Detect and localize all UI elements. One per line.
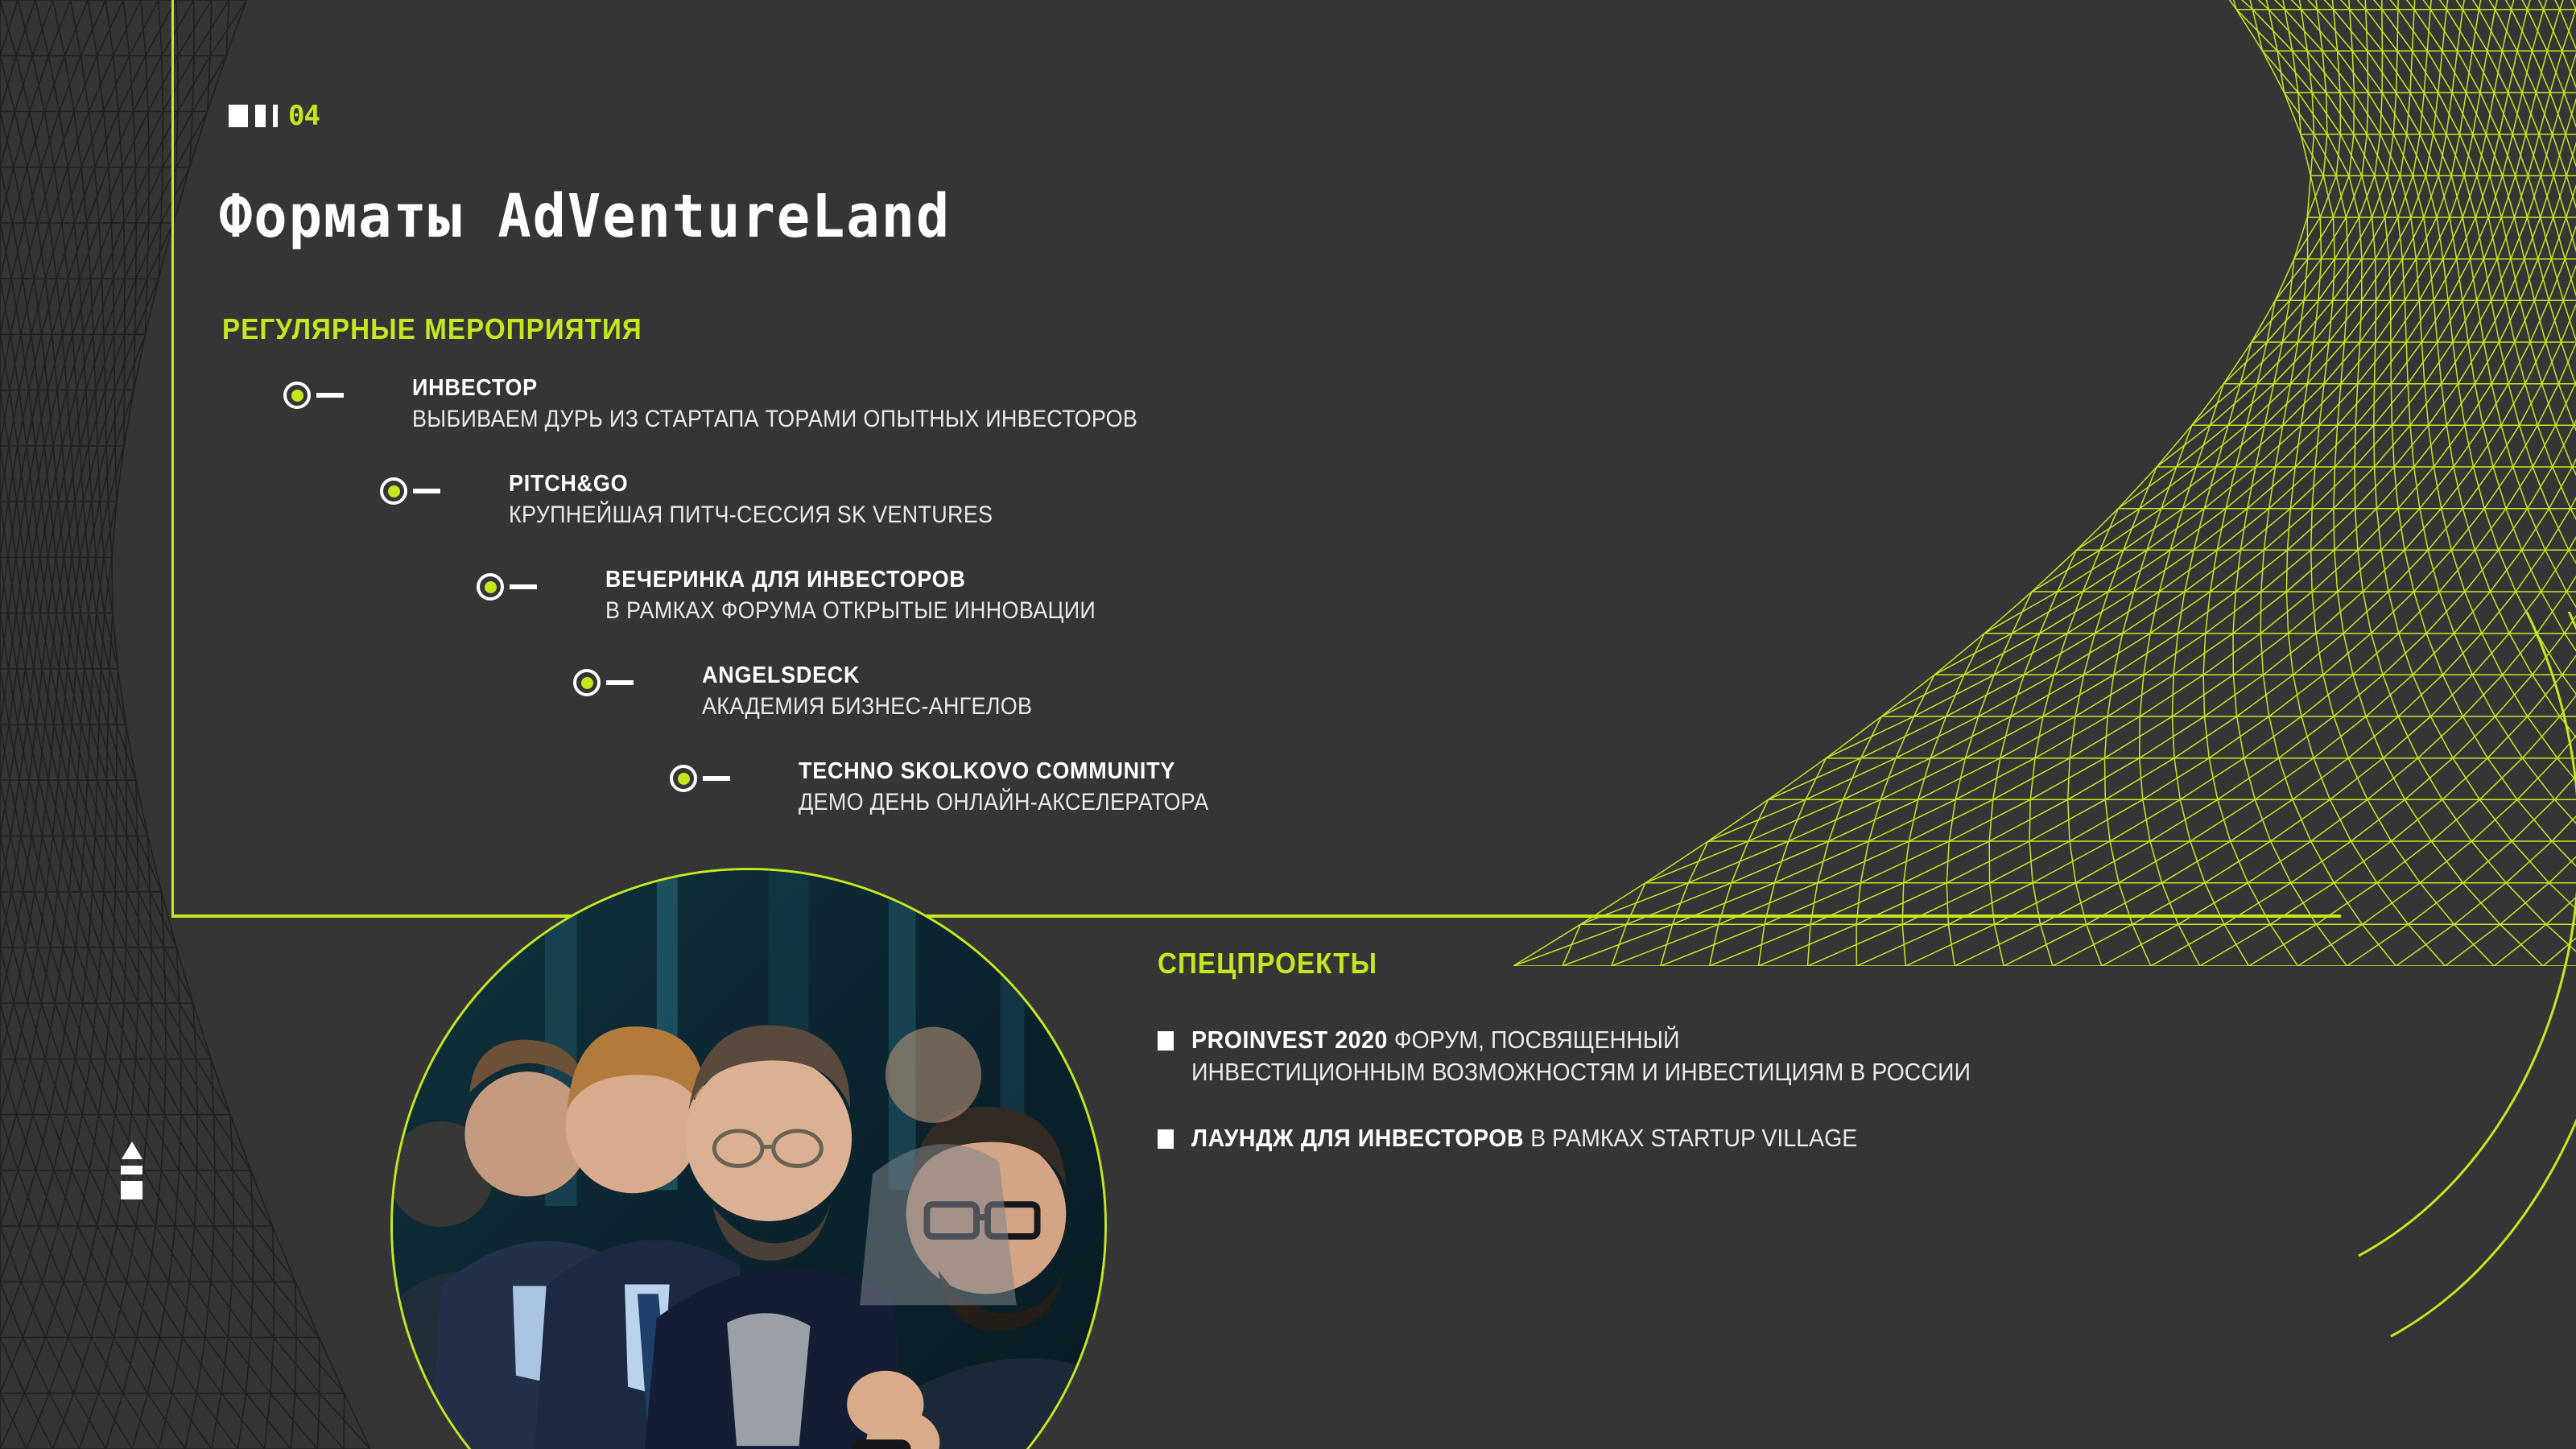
special-project-name: ЛАУНДЖ ДЛЯ ИНВЕСТОРОВ bbox=[1191, 1124, 1524, 1152]
square-bullet-icon bbox=[1158, 1031, 1174, 1051]
special-project-line-1: ЛАУНДЖ ДЛЯ ИНВЕСТОРОВ В РАМКАХ STARTUP V… bbox=[1191, 1122, 1857, 1154]
event-row[interactable]: ВЕЧЕРИНКА ДЛЯ ИНВЕСТОРОВВ РАМКАХ ФОРУМА … bbox=[0, 567, 2576, 663]
event-subtitle: В РАМКАХ ФОРУМА ОТКРЫТЫЕ ИННОВАЦИИ bbox=[605, 597, 1096, 625]
special-project-text: ЛАУНДЖ ДЛЯ ИНВЕСТОРОВ В РАМКАХ STARTUP V… bbox=[1191, 1122, 1915, 1154]
bullet-dot-icon bbox=[291, 390, 303, 402]
special-project-desc-1: В РАМКАХ STARTUP VILLAGE bbox=[1524, 1124, 1857, 1152]
special-project-text: PROINVEST 2020 ФОРУМ, ПОСВЯЩЕННЫЙИНВЕСТИ… bbox=[1191, 1024, 2038, 1088]
bullet-dot-icon bbox=[485, 581, 497, 593]
page-title: Форматы AdVentureLand bbox=[219, 182, 951, 251]
event-row[interactable]: ANGELSDECKАКАДЕМИЯ БИЗНЕС-АНГЕЛОВ bbox=[0, 663, 2576, 758]
bullet-dot-icon bbox=[678, 773, 690, 785]
event-title: ВЕЧЕРИНКА ДЛЯ ИНВЕСТОРОВ bbox=[605, 567, 1112, 593]
event-title: TECHNO SKOLKOVO COMMUNITY bbox=[799, 758, 1223, 785]
event-title: ИНВЕСТОР bbox=[412, 375, 1162, 402]
special-project-item[interactable]: ЛАУНДЖ ДЛЯ ИНВЕСТОРОВ В РАМКАХ STARTUP V… bbox=[1158, 1122, 2365, 1154]
special-project-line-2: ИНВЕСТИЦИОННЫМ ВОЗМОЖНОСТЯМ И ИНВЕСТИЦИЯ… bbox=[1191, 1056, 1971, 1088]
event-text-group: ANGELSDECKАКАДЕМИЯ БИЗНЕС-АНГЕЛОВ bbox=[702, 663, 1069, 720]
event-title: PITCH&GO bbox=[509, 471, 1009, 497]
event-row[interactable]: ИНВЕСТОРВЫБИВАЕМ ДУРЬ ИЗ СТАРТАПА ТОРАМИ… bbox=[0, 375, 2576, 471]
bullet-dash-icon bbox=[703, 776, 730, 781]
event-bullet-icon bbox=[573, 669, 634, 696]
event-bullet-icon bbox=[670, 765, 730, 792]
event-subtitle: АКАДЕМИЯ БИЗНЕС-АНГЕЛОВ bbox=[702, 693, 1032, 720]
bullet-ring-icon bbox=[573, 669, 601, 696]
event-row[interactable]: TECHNO SKOLKOVO COMMUNITYДЕМО ДЕНЬ ОНЛАЙ… bbox=[0, 758, 2576, 854]
event-text-group: TECHNO SKOLKOVO COMMUNITYДЕМО ДЕНЬ ОНЛАЙ… bbox=[799, 758, 1254, 816]
event-text-group: ИНВЕСТОРВЫБИВАЕМ ДУРЬ ИЗ СТАРТАПА ТОРАМИ… bbox=[412, 375, 1218, 433]
special-projects-heading: СПЕЦПРОЕКТЫ bbox=[1158, 947, 1377, 980]
bullet-dash-icon bbox=[316, 393, 344, 398]
event-subtitle: КРУПНЕЙШАЯ ПИТЧ-СЕССИЯ SK VENTURES bbox=[509, 502, 993, 529]
special-projects-list: PROINVEST 2020 ФОРУМ, ПОСВЯЩЕННЫЙИНВЕСТИ… bbox=[1158, 1024, 2365, 1188]
horizontal-accent-rule bbox=[171, 914, 2341, 918]
mark-bar-icon bbox=[255, 105, 266, 127]
special-project-item[interactable]: PROINVEST 2020 ФОРУМ, ПОСВЯЩЕННЫЙИНВЕСТИ… bbox=[1158, 1024, 2365, 1088]
event-subtitle: ДЕМО ДЕНЬ ОНЛАЙН-АКСЕЛЕРАТОРА bbox=[799, 789, 1209, 816]
brand-logo-vertical bbox=[121, 1141, 142, 1199]
slide: 04 Форматы AdVentureLand РЕГУЛЯРНЫЕ МЕРО… bbox=[0, 0, 2576, 1449]
event-row[interactable]: PITCH&GOКРУПНЕЙШАЯ ПИТЧ-СЕССИЯ SK VENTUR… bbox=[0, 471, 2576, 567]
slide-number: 04 bbox=[288, 105, 320, 127]
logo-bar-icon bbox=[121, 1166, 142, 1174]
bullet-ring-icon bbox=[380, 477, 407, 505]
event-bullet-icon bbox=[380, 477, 440, 505]
bullet-ring-icon bbox=[283, 382, 311, 409]
event-title: ANGELSDECK bbox=[702, 663, 1043, 689]
bullet-dash-icon bbox=[606, 680, 634, 685]
slide-number-badge: 04 bbox=[229, 105, 320, 127]
event-text-group: PITCH&GOКРУПНЕЙШАЯ ПИТЧ-СЕССИЯ SK VENTUR… bbox=[509, 471, 1046, 529]
bullet-ring-icon bbox=[670, 765, 697, 792]
bullet-dash-icon bbox=[413, 489, 440, 493]
regular-events-list: ИНВЕСТОРВЫБИВАЕМ ДУРЬ ИЗ СТАРТАПА ТОРАМИ… bbox=[0, 375, 2576, 854]
audience-photo bbox=[390, 868, 1107, 1449]
logo-triangle-icon bbox=[122, 1141, 142, 1159]
regular-events-heading: РЕГУЛЯРНЫЕ МЕРОПРИЯТИЯ bbox=[222, 312, 642, 346]
event-bullet-icon bbox=[477, 573, 537, 601]
event-subtitle: ВЫБИВАЕМ ДУРЬ ИЗ СТАРТАПА ТОРАМИ ОПЫТНЫХ… bbox=[412, 406, 1137, 433]
bullet-dot-icon bbox=[581, 677, 593, 689]
square-bullet-icon bbox=[1158, 1129, 1174, 1149]
event-bullet-icon bbox=[283, 382, 344, 409]
bullet-dot-icon bbox=[388, 485, 400, 497]
event-text-group: ВЕЧЕРИНКА ДЛЯ ИНВЕСТОРОВВ РАМКАХ ФОРУМА … bbox=[605, 567, 1150, 625]
logo-square-icon bbox=[121, 1181, 142, 1199]
bullet-dash-icon bbox=[510, 584, 537, 589]
bullet-ring-icon bbox=[477, 573, 504, 601]
special-project-name: PROINVEST 2020 bbox=[1191, 1026, 1388, 1054]
special-project-desc-1: ФОРУМ, ПОСВЯЩЕННЫЙ bbox=[1388, 1026, 1680, 1054]
mark-square-icon bbox=[229, 105, 248, 127]
mark-tick-icon bbox=[273, 105, 278, 127]
special-project-line-1: PROINVEST 2020 ФОРУМ, ПОСВЯЩЕННЫЙ bbox=[1191, 1024, 1971, 1056]
